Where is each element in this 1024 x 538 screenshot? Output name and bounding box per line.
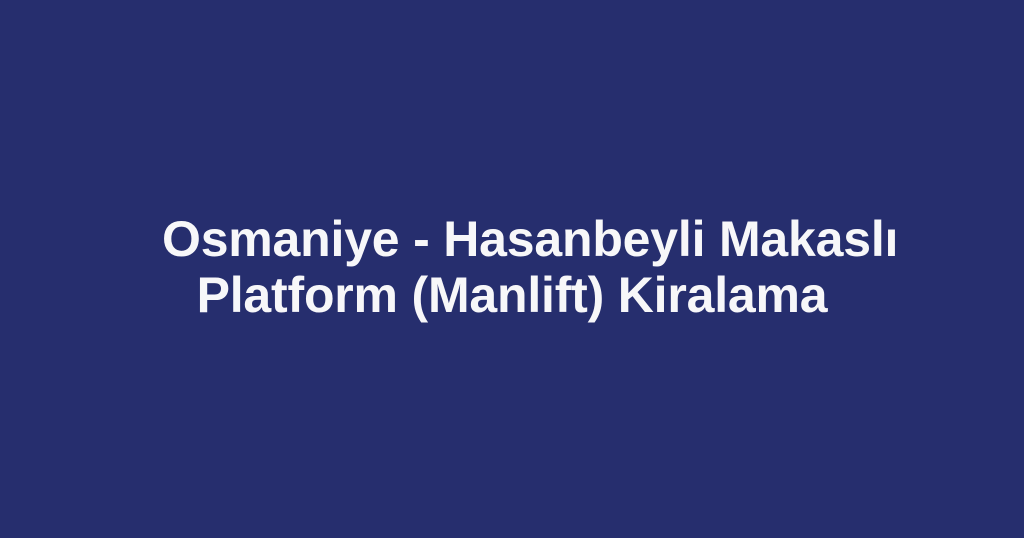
share-card: Osmaniye - Hasanbeyli Makaslı Platform (…: [0, 0, 1024, 538]
page-title-line-2: Platform (Manlift) Kiralama: [162, 267, 862, 323]
page-title: Osmaniye - Hasanbeyli Makaslı Platform (…: [122, 211, 902, 323]
page-title-line-1: Osmaniye - Hasanbeyli Makaslı: [162, 211, 862, 267]
headline-block: Osmaniye - Hasanbeyli Makaslı Platform (…: [0, 0, 1024, 538]
